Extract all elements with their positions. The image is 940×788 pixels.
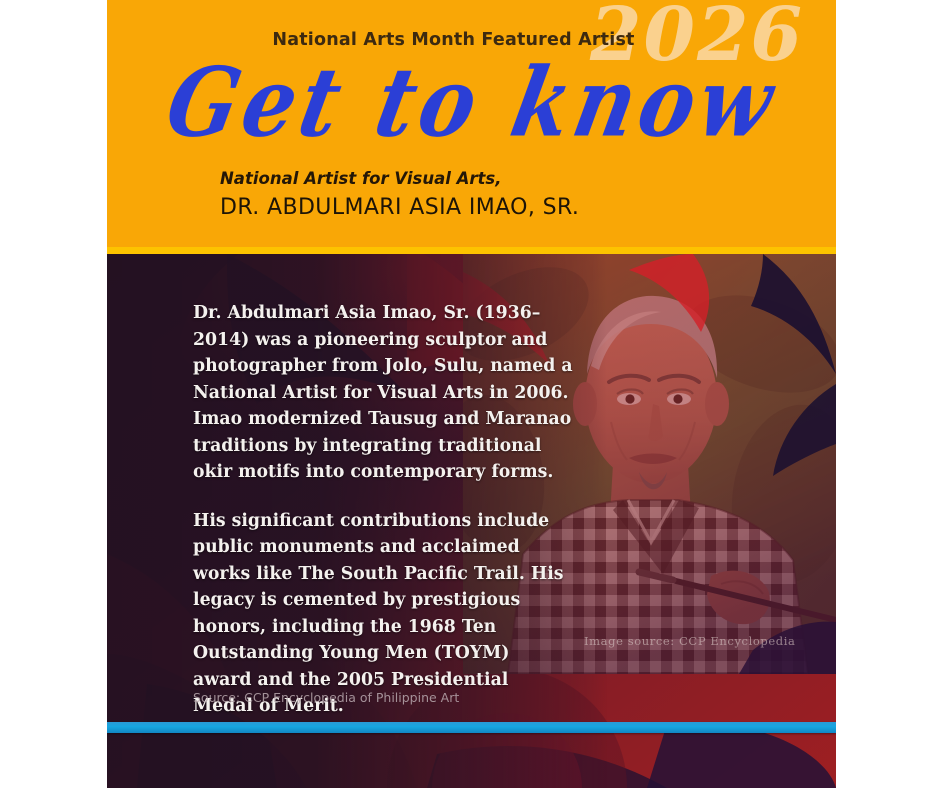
image-source-credit: Image source: CCP Encyclopedia xyxy=(584,634,795,648)
biography-paragraph-1: Dr. Abdulmari Asia Imao, Sr. (1936–2014)… xyxy=(193,300,573,486)
script-headline: Get to know xyxy=(160,55,798,150)
source-citation: Source: CCP Encyclopedia of Philippine A… xyxy=(193,690,459,705)
header-accent-stripe xyxy=(107,247,836,254)
poster-body-panel: Dr. Abdulmari Asia Imao, Sr. (1936–2014)… xyxy=(107,254,836,788)
poster-header: 2026 National Arts Month Featured Artist… xyxy=(107,0,836,247)
poster-canvas: 2026 National Arts Month Featured Artist… xyxy=(107,0,836,788)
artist-role-label: National Artist for Visual Arts, xyxy=(220,169,502,188)
artist-name-label: DR. ABDULMARI ASIA IMAO, SR. xyxy=(220,195,579,220)
blue-divider-rule xyxy=(107,722,836,733)
biography-paragraph-2: His significant contributions include pu… xyxy=(193,508,573,720)
artist-biography: Dr. Abdulmari Asia Imao, Sr. (1936–2014)… xyxy=(193,300,573,720)
